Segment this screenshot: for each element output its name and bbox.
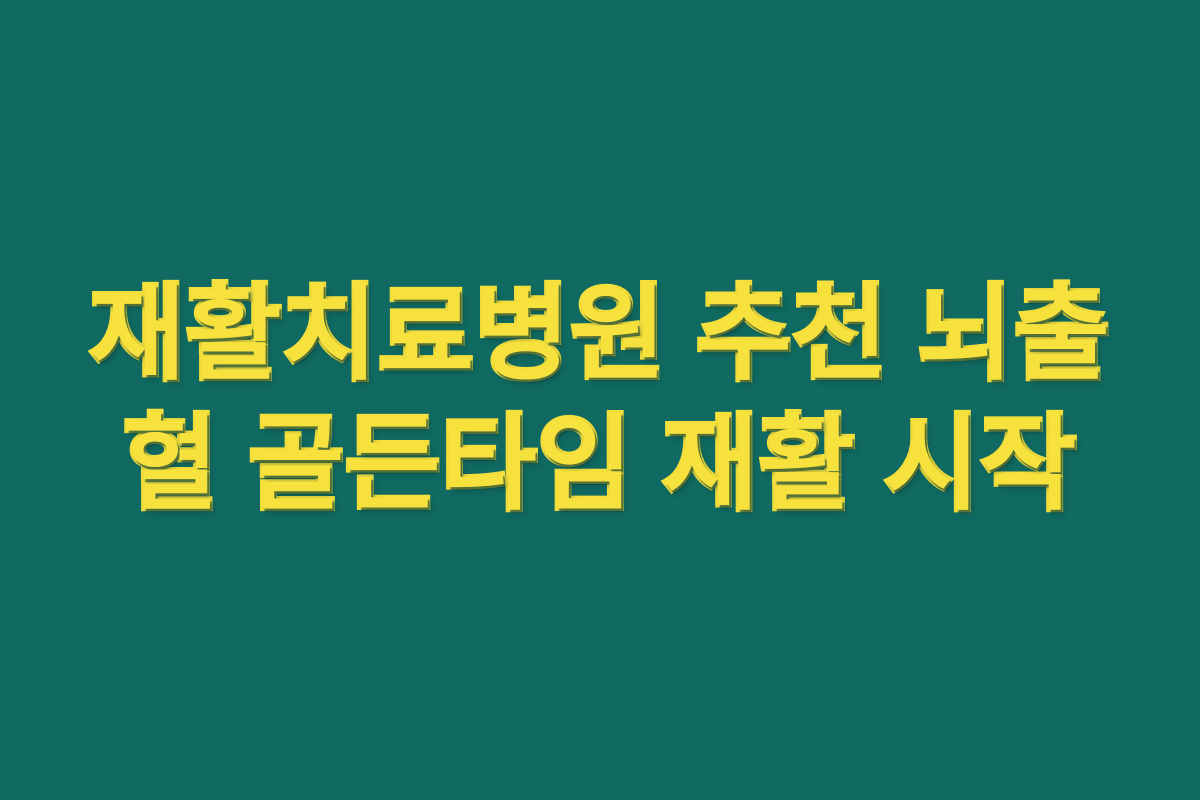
headline-line-2: 혈 골든타임 재활 시작 [70, 400, 1130, 530]
thumbnail-card: 재활치료병원 추천 뇌출 혈 골든타임 재활 시작 [0, 0, 1200, 800]
headline-line-1: 재활치료병원 추천 뇌출 [70, 270, 1130, 400]
headline-block: 재활치료병원 추천 뇌출 혈 골든타임 재활 시작 [70, 270, 1130, 530]
